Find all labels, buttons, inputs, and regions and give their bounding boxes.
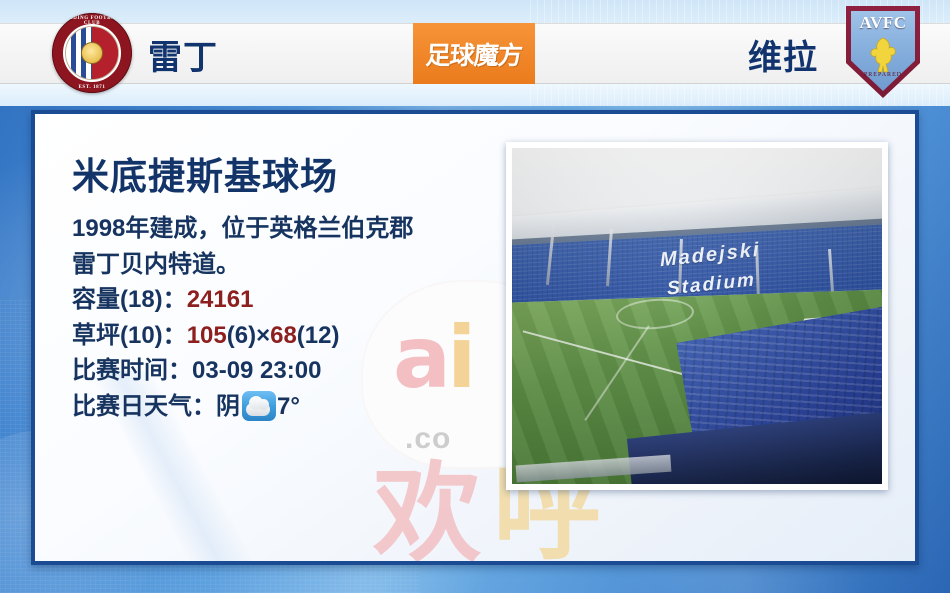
pitch-label: 草坪(10)：	[72, 322, 187, 349]
lion-rampant-icon	[865, 36, 901, 74]
pitch-length: 105	[187, 322, 227, 349]
stadium-description-line-2: 雷丁贝内特道。	[72, 247, 502, 283]
reading-badge-top-text: READING FOOTBALL CLUB	[52, 16, 132, 26]
brand-logo-text: 足球魔方	[425, 36, 524, 72]
weather-label: 比赛日天气：	[72, 389, 216, 425]
reading-badge-text: READING FOOTBALL CLUB EST. 1871	[52, 13, 132, 93]
stadium-photo: Madejski Stadium	[512, 148, 882, 484]
watermark-dotcom: .co	[405, 422, 451, 456]
reading-badge-bottom-text: EST. 1871	[52, 85, 132, 90]
photo-vignette	[512, 148, 882, 484]
capacity-row: 容量(18)：24161	[72, 282, 502, 318]
match-header: READING FOOTBALL CLUB EST. 1871 雷丁 足球魔方 …	[0, 0, 950, 106]
match-time-label: 比赛时间：	[72, 357, 192, 384]
weather-condition: 阴	[216, 389, 240, 425]
villa-badge-motto: PREPARED	[846, 72, 920, 78]
brand-logo[interactable]: 足球魔方	[413, 23, 535, 84]
stadium-description-line-1: 1998年建成，位于英格兰伯克郡	[72, 211, 502, 247]
away-team-name[interactable]: 维拉	[748, 30, 818, 79]
stadium-info-card: READING FOOTBALL CLUB EST. 1871 雷丁 足球魔方 …	[0, 0, 950, 593]
match-time-value: 03-09 23:00	[192, 357, 321, 384]
pitch-separator: ×	[256, 322, 270, 349]
pitch-width: 68	[270, 322, 297, 349]
pitch-width-rank: (12)	[297, 322, 340, 349]
weather-row: 比赛日天气：阴7°	[72, 389, 502, 425]
stadium-photo-frame[interactable]: Madejski Stadium	[506, 142, 888, 490]
home-team-name[interactable]: 雷丁	[148, 30, 218, 79]
stadium-title: 米底捷斯基球场	[72, 146, 502, 200]
watermark-char-1: 欢	[373, 460, 481, 565]
villa-badge-initials: AVFC	[846, 13, 920, 33]
info-panel: ai .co 欢 呼 米底捷斯基球场 1998年建成，位于英格兰伯克郡 雷丁贝内…	[31, 110, 919, 565]
capacity-label: 容量(18)：	[72, 286, 187, 313]
pitch-length-rank: (6)	[227, 322, 256, 349]
match-time-row: 比赛时间：03-09 23:00	[72, 353, 502, 389]
weather-temperature: 7°	[277, 389, 300, 425]
stadium-info-text: 米底捷斯基球场 1998年建成，位于英格兰伯克郡 雷丁贝内特道。 容量(18)：…	[72, 146, 502, 424]
reading-fc-badge-icon[interactable]: READING FOOTBALL CLUB EST. 1871	[52, 13, 132, 93]
pitch-row: 草坪(10)：105(6)×68(12)	[72, 318, 502, 354]
cloudy-icon	[242, 391, 276, 421]
capacity-value: 24161	[187, 286, 254, 313]
aston-villa-badge-icon[interactable]: AVFC PREPARED	[846, 6, 920, 98]
